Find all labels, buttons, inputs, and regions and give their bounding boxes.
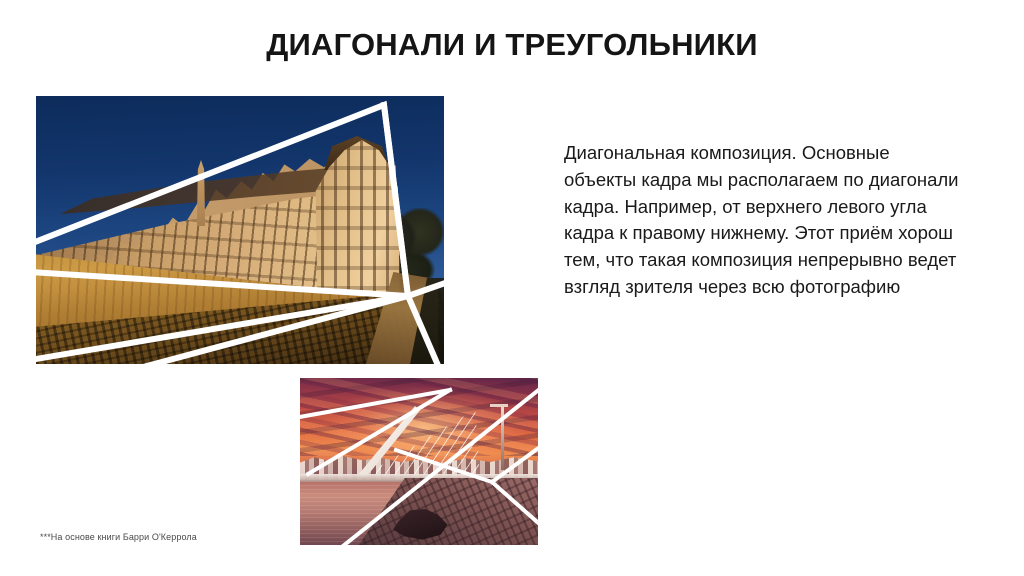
bridge-sunset-photo xyxy=(300,378,538,545)
footnote-source: ***На основе книги Барри О'Керрола xyxy=(40,531,197,543)
diagonal-overlay-lines-secondary xyxy=(300,378,538,545)
hotel-de-ville-photo xyxy=(36,96,444,364)
page-title: ДИАГОНАЛИ И ТРЕУГОЛЬНИКИ xyxy=(120,26,904,64)
diagonal-overlay-lines-main xyxy=(36,96,444,364)
body-paragraph: Диагональная композиция. Основные объект… xyxy=(564,140,964,301)
